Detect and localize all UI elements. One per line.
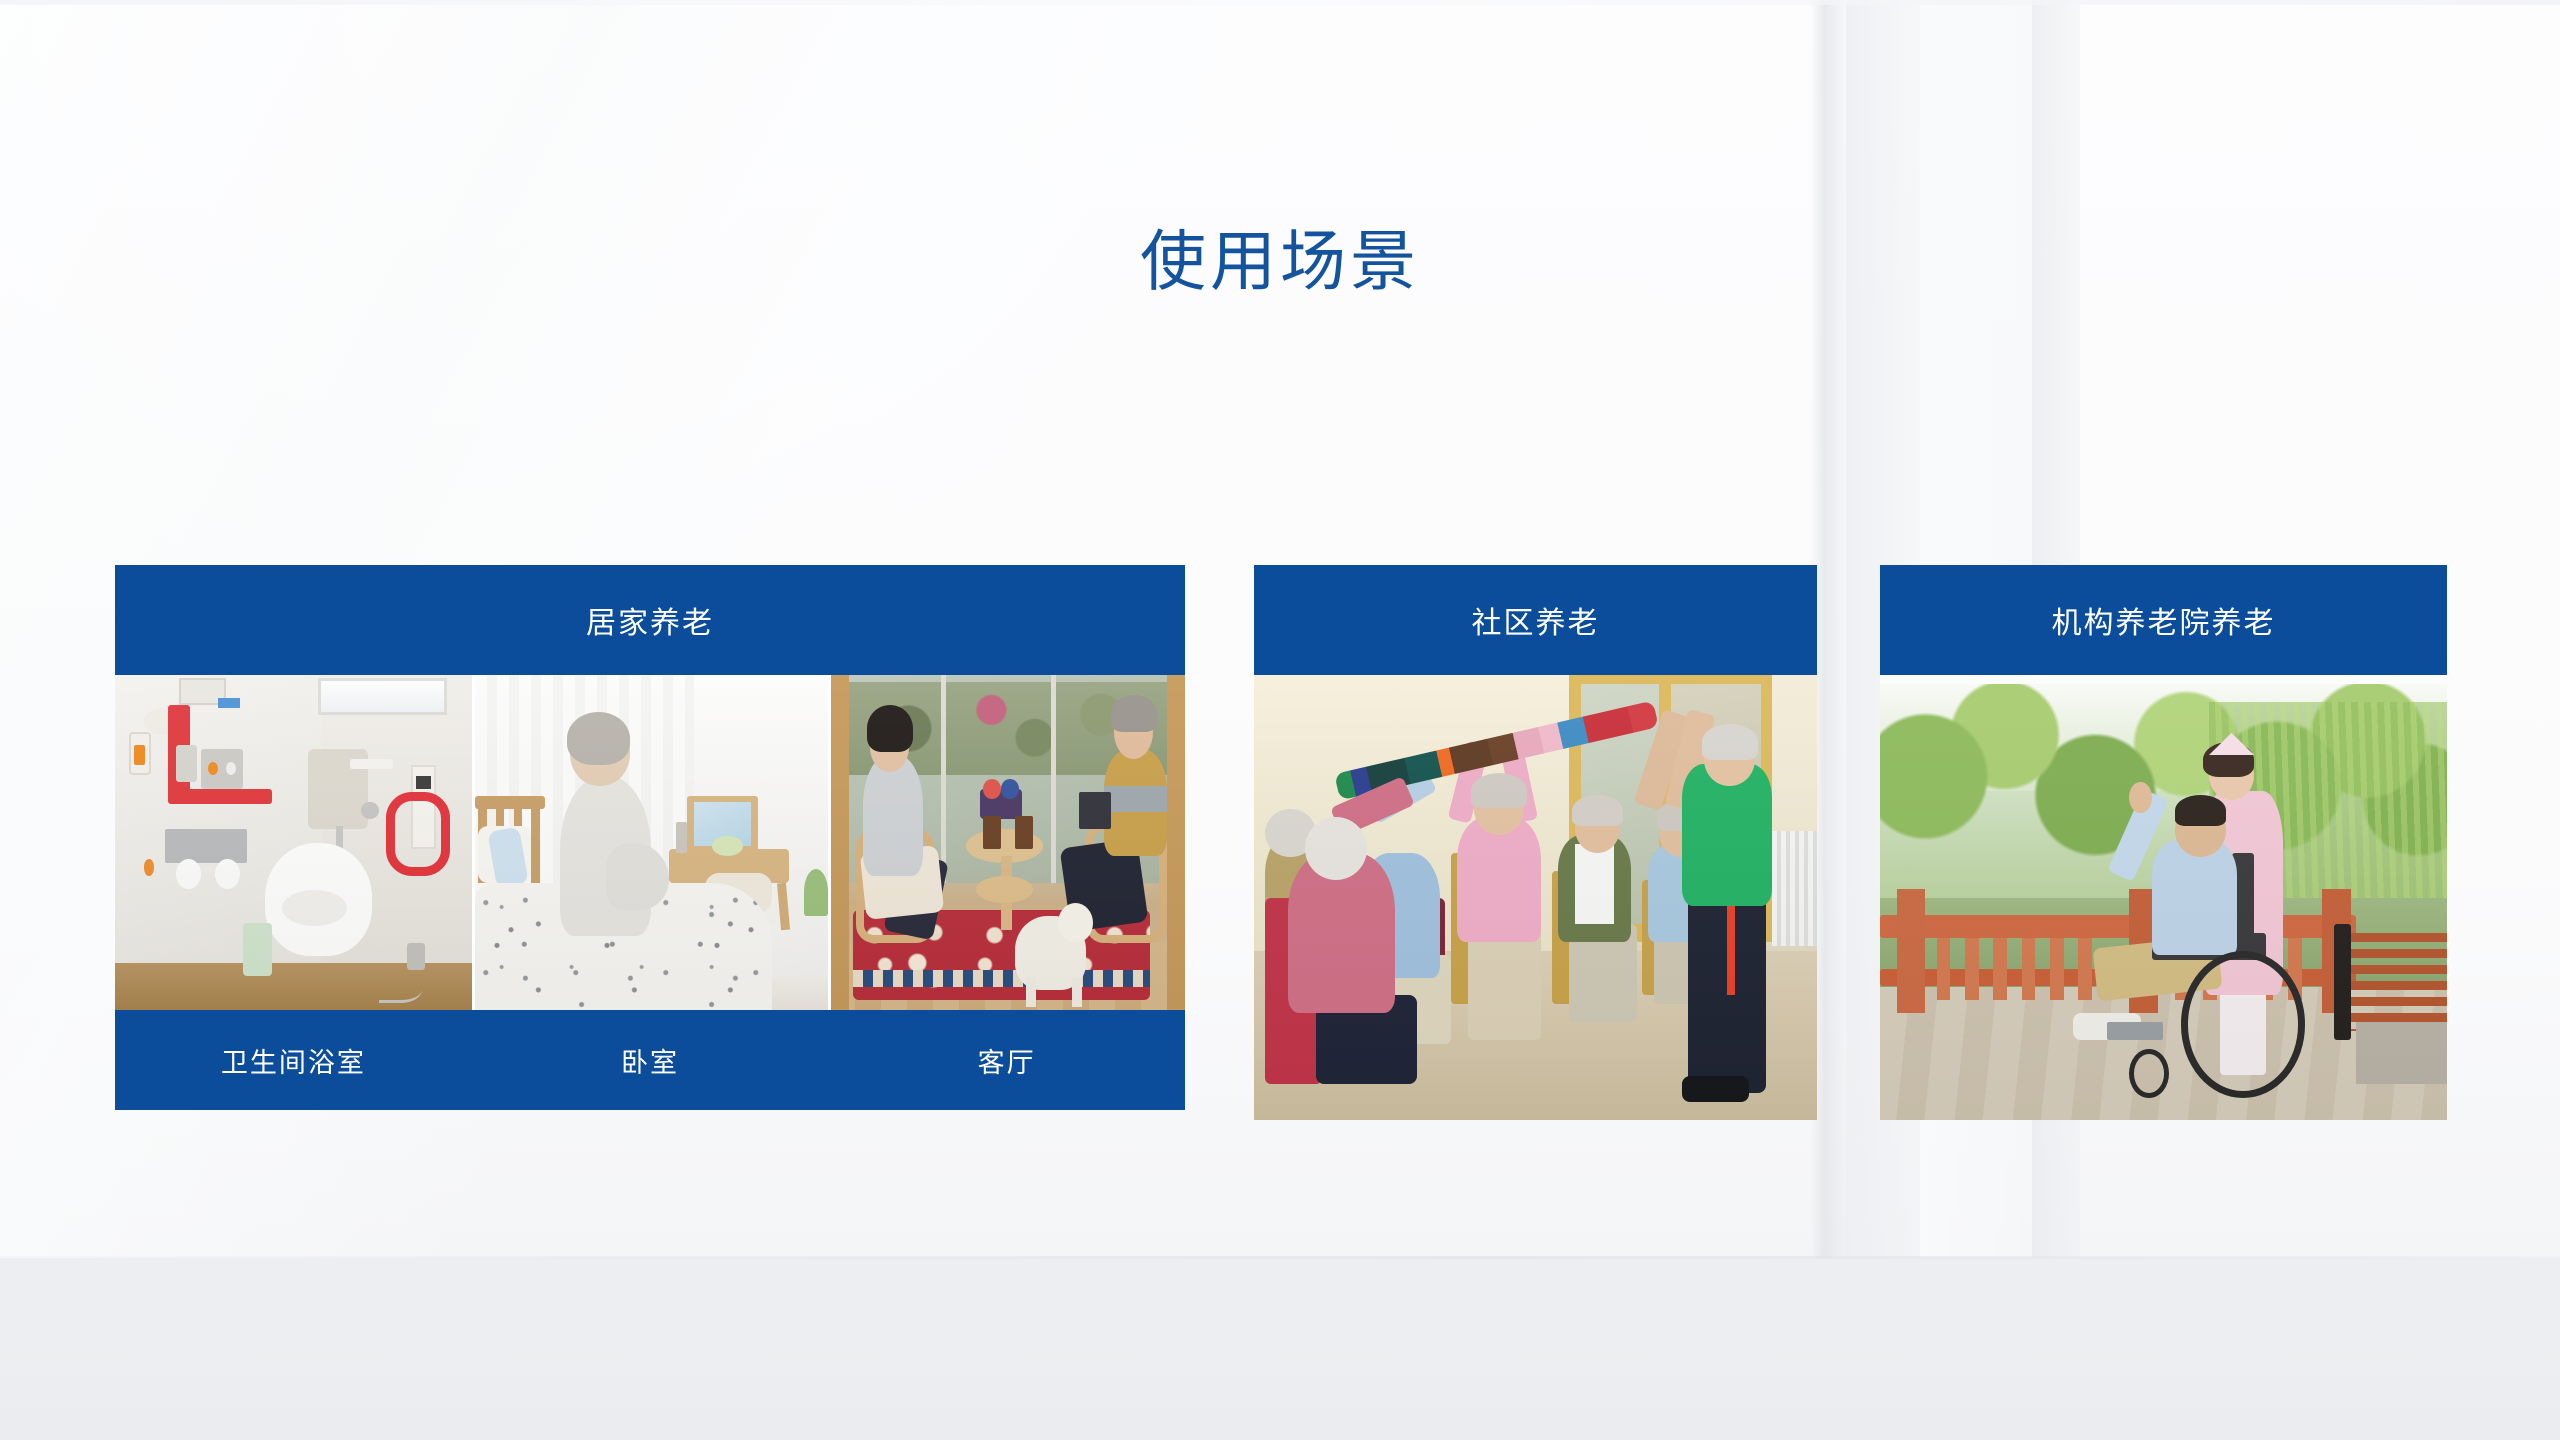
photo-caption-row-home: 卫生间浴室 卧室 客厅 (115, 1010, 1185, 1110)
page-title-container: 使用场景 (0, 228, 2560, 294)
nursing-home-park-photo (1880, 675, 2447, 1120)
photo-caption-livingroom: 客厅 (828, 1041, 1185, 1080)
photo-caption-bedroom: 卧室 (472, 1041, 829, 1080)
background-top-edge (0, 0, 2560, 5)
background-floor-seam (0, 1256, 2560, 1259)
bedroom-photo (472, 675, 829, 1010)
accessible-bathroom-photo (115, 675, 472, 1010)
scenario-card-institution[interactable]: 机构养老院养老 (1880, 565, 2447, 1120)
card-header-home: 居家养老 (115, 565, 1185, 675)
community-exercise-photo (1254, 675, 1817, 1120)
card-header-institution: 机构养老院养老 (1880, 565, 2447, 675)
page-title: 使用场景 (0, 228, 2560, 294)
background-floor-plane (0, 1258, 2560, 1440)
photo-strip-home (115, 675, 1185, 1010)
card-header-community: 社区养老 (1254, 565, 1817, 675)
photo-strip-community (1254, 675, 1817, 1120)
photo-strip-institution (1880, 675, 2447, 1120)
photo-caption-bathroom: 卫生间浴室 (115, 1041, 472, 1080)
scenario-card-home[interactable]: 居家养老 (115, 565, 1185, 1110)
living-room-photo (828, 675, 1185, 1010)
scenario-card-community[interactable]: 社区养老 (1254, 565, 1817, 1120)
